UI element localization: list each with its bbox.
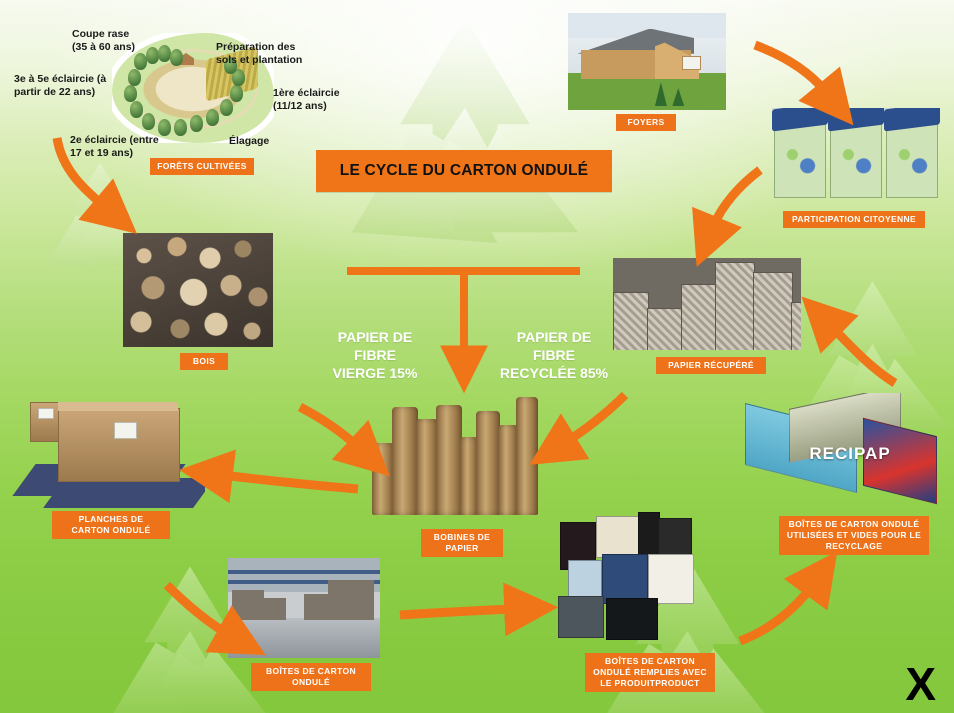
houses-image <box>568 13 726 110</box>
caption-bobines-de-papier: BOBINES DE PAPIER <box>421 529 503 557</box>
page-title: LE CYCLE DU CARTON ONDULÉ <box>316 150 612 192</box>
wood-logs-image <box>123 233 273 347</box>
arrow-house-to-bins <box>755 45 826 92</box>
recycling-bins-image <box>772 108 942 200</box>
caption-papier-recupere: PAPIER RÉCUPÉRÉ <box>656 357 766 374</box>
recipap-logo: RECIPAP <box>797 421 903 487</box>
arrow-warehouse-to-product-boxes <box>400 609 515 615</box>
used-boxes-for-recycling-image: RECIPAP <box>745 393 943 515</box>
annotation-eclaircie-3-5: 3e à 5e éclaircie (à partir de 22 ans) <box>14 73 106 99</box>
arrow-reels-to-sheets <box>222 475 358 489</box>
caption-boites-de-carton-ondule: BOÎTES DE CARTON ONDULÉ <box>251 663 371 691</box>
label-fibre-recyclee: PAPIER DE FIBRE RECYCLÉE 85% <box>492 328 616 382</box>
arrow-bales-to-reels <box>566 395 625 442</box>
annotation-elagage: Élagage <box>229 135 269 148</box>
infographic-poster: Coupe rase (35 à 60 ans) Préparation des… <box>0 0 954 713</box>
caption-boites-pour-recyclage: BOÎTES DE CARTON ONDULÉ UTILISÉES ET VID… <box>779 516 929 555</box>
arrow-bins-to-bales <box>713 170 760 227</box>
annotation-eclaircie-2: 2e éclaircie (entre 17 et 19 ans) <box>70 134 159 160</box>
caption-planches-de-carton-ondule: PLANCHES DE CARTON ONDULÉ <box>52 511 170 539</box>
annotation-preparation: Préparation des sols et plantation <box>216 41 302 67</box>
caption-foyers: FOYERS <box>616 114 676 131</box>
caption-participation-citoyenne: PARTICIPATION CITOYENNE <box>783 211 925 228</box>
caption-bois: BOIS <box>180 353 228 370</box>
label-fibre-vierge: PAPIER DE FIBRE VIERGE 15% <box>320 328 430 382</box>
boxes-warehouse-image <box>228 558 380 658</box>
corner-mark: X <box>905 661 936 707</box>
annotation-eclaircie-1: 1ère éclaircie (11/12 ans) <box>273 87 340 113</box>
arrow-wood-to-reels <box>300 407 358 447</box>
filled-product-boxes-image <box>558 512 706 640</box>
caption-boites-remplies: BOÎTES DE CARTON ONDULÉ REMPLIES AVEC LE… <box>585 653 715 692</box>
caption-forets-cultivees: FORÊTS CULTIVÉES <box>150 158 254 175</box>
corrugated-board-sheets-image <box>10 392 205 514</box>
annotation-coupe-rase: Coupe rase (35 à 60 ans) <box>72 28 135 54</box>
paper-reels-image <box>370 385 540 515</box>
recovered-paper-bales-image <box>613 258 801 350</box>
